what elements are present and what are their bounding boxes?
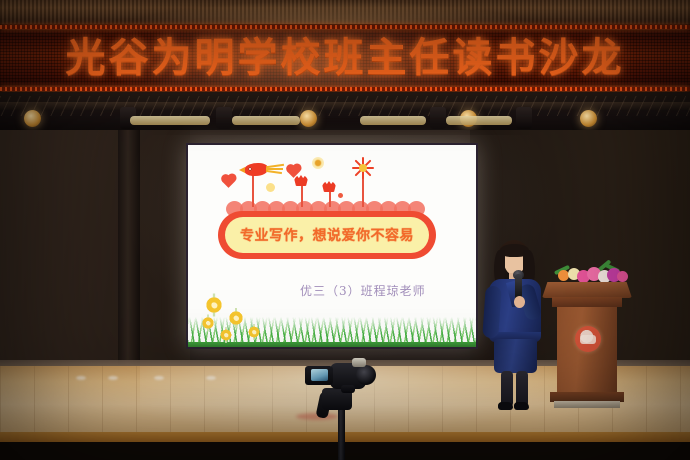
red-daisy-icon: [352, 157, 374, 179]
school-emblem-icon: [575, 326, 601, 352]
ceiling-glow: [120, 0, 540, 26]
slide-title-plaque: 专业写作，想说爱你不容易: [218, 211, 436, 259]
stage-lamp-icon: [300, 110, 317, 127]
presenter: [476, 240, 554, 410]
podium-foot: [554, 401, 620, 408]
presenter-skirt: [494, 339, 537, 373]
heart-icon: [222, 175, 235, 188]
slide-title: 专业写作，想说爱你不容易: [240, 225, 414, 245]
slide-subtitle: 优三（3）班程琼老师: [300, 282, 460, 299]
tulip-icon: [294, 175, 308, 186]
yellow-flower-icon: [200, 315, 217, 332]
yellow-flower-icon: [218, 327, 234, 343]
stage-front-edge: [0, 432, 690, 442]
light-bar: [232, 116, 300, 125]
spotlight-fixture-icon: [430, 107, 446, 129]
led-banner-text: 光谷为明学校班主任读书沙龙: [0, 24, 690, 84]
yellow-flower-icon: [246, 324, 262, 340]
tulip-icon: [322, 181, 336, 192]
podium-top: [542, 282, 632, 298]
spotlight-fixture-icon: [516, 107, 532, 129]
presenter-shoe: [514, 402, 529, 410]
camcorder-lcd-screen: [311, 369, 328, 381]
podium: [548, 282, 626, 414]
camera-lens-hood: [352, 358, 366, 367]
spotlight-fixture-icon: [216, 107, 232, 129]
yellow-flower-icon: [203, 294, 226, 317]
yellow-flower-icon: [226, 308, 246, 328]
stage-lamp-icon: [580, 110, 597, 127]
bird-perch-stem: [252, 173, 254, 207]
led-banner: 光谷为明学校班主任读书沙龙: [0, 24, 690, 92]
floor-light-reflection: [154, 376, 164, 380]
camera-lens-icon: [356, 365, 376, 385]
red-dot-icon: [338, 193, 343, 198]
yellow-dot-icon: [266, 183, 275, 192]
plaque-inner: 专业写作，想说爱你不容易: [225, 217, 429, 253]
stage-photo-scene: 光谷为明学校班主任读书沙龙: [0, 0, 690, 460]
floor-light-reflection: [108, 376, 118, 380]
podium-neck: [552, 297, 622, 307]
stage-lamp-icon: [24, 110, 41, 127]
light-bar: [360, 116, 426, 125]
floor-light-reflection: [206, 376, 216, 380]
flower-icon: [617, 271, 628, 282]
camcorder-grip: [341, 385, 355, 393]
ceiling-truss: [0, 92, 690, 134]
stage-foreground-shadow: [0, 442, 690, 460]
slide-surface: 专业写作，想说爱你不容易 优三（3）班程琼老师: [188, 145, 476, 347]
bird-icon: [244, 163, 268, 176]
light-bar: [446, 116, 512, 125]
bird-tail-icon: [266, 164, 284, 174]
presenter-hand: [514, 296, 525, 308]
led-border-bottom: [0, 87, 690, 91]
floor-light-reflection: [76, 376, 86, 380]
presenter-shoe: [498, 402, 513, 410]
heart-icon: [287, 165, 300, 178]
yellow-dot-icon: [312, 157, 324, 169]
light-bar: [130, 116, 210, 125]
projection-screen: 专业写作，想说爱你不容易 优三（3）班程琼老师: [186, 143, 478, 349]
